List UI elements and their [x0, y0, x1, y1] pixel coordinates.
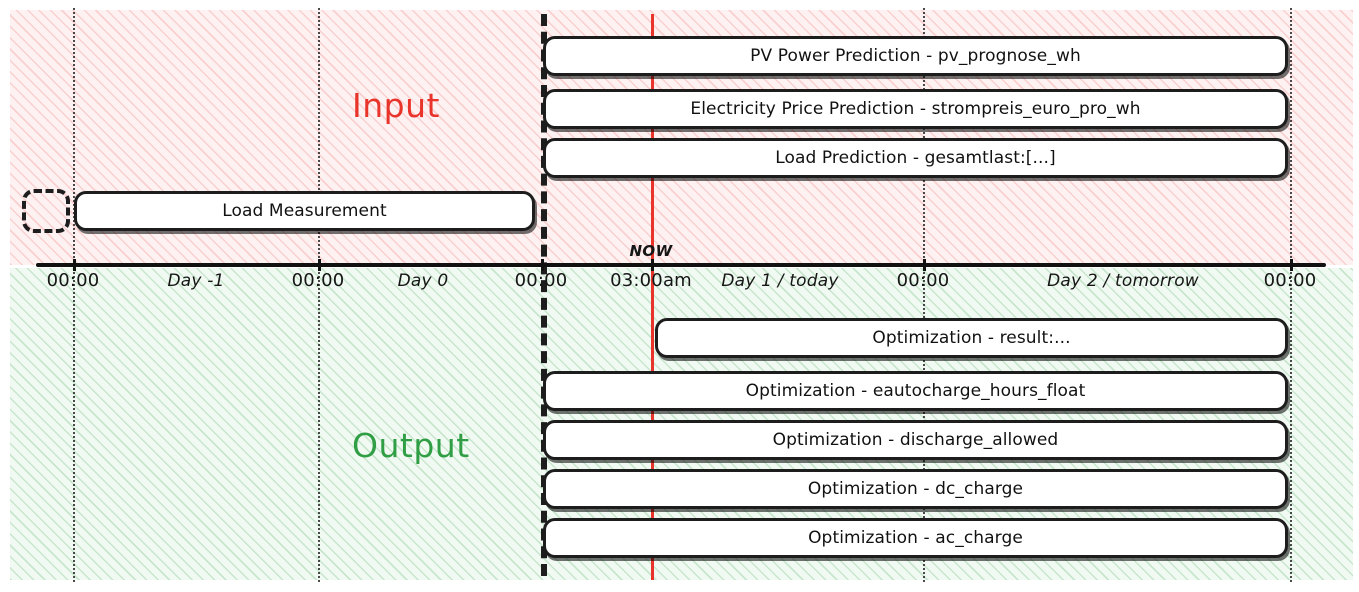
timeline-diagram: 00:0000:0000:0003:00am00:0000:00 Day -1D…: [0, 0, 1359, 592]
axis-day-label-2: Day 1 / today: [721, 271, 838, 291]
input-bar-label-3: Load Measurement: [222, 201, 387, 221]
input-bar-label-1: Electricity Price Prediction - stromprei…: [690, 99, 1140, 119]
axis-tick-label-3: 03:00am: [610, 270, 692, 291]
axis-day-label-3: Day 2 / tomorrow: [1047, 271, 1199, 291]
axis-day-label-1: Day 0: [398, 271, 449, 291]
axis-tick-label-5: 00:00: [1264, 270, 1317, 291]
input-bar-label-2: Load Prediction - gesamtlast:[...]: [775, 148, 1056, 168]
load-measurement-continuation-stub: [22, 189, 70, 233]
axis-tick-label-1: 00:00: [292, 270, 345, 291]
output-bar-0[interactable]: Optimization - result:...: [655, 318, 1288, 358]
axis-tick-label-0: 00:00: [47, 270, 100, 291]
now-label: NOW: [629, 242, 672, 260]
axis-tick-label-2: 00:00: [515, 270, 568, 291]
input-section-caption: Input: [352, 86, 440, 125]
time-axis: [36, 263, 1326, 267]
output-bar-label-4: Optimization - ac_charge: [808, 528, 1023, 548]
axis-day-label-0: Day -1: [167, 271, 224, 291]
output-bar-4[interactable]: Optimization - ac_charge: [543, 518, 1288, 558]
output-bar-label-1: Optimization - eautocharge_hours_float: [746, 381, 1086, 401]
axis-tick-label-4: 00:00: [897, 270, 950, 291]
output-bar-label-3: Optimization - dc_charge: [808, 479, 1023, 499]
day-separator-1: [318, 8, 320, 582]
input-bar-3[interactable]: Load Measurement: [74, 191, 535, 231]
day-separator-0: [73, 8, 75, 582]
input-bar-0[interactable]: PV Power Prediction - pv_prognose_wh: [543, 36, 1288, 76]
input-bar-1[interactable]: Electricity Price Prediction - stromprei…: [543, 89, 1288, 129]
output-bar-1[interactable]: Optimization - eautocharge_hours_float: [543, 371, 1288, 411]
output-bar-2[interactable]: Optimization - discharge_allowed: [543, 420, 1288, 460]
output-bar-label-0: Optimization - result:...: [872, 328, 1070, 348]
output-bar-label-2: Optimization - discharge_allowed: [773, 430, 1059, 450]
output-section-caption: Output: [352, 426, 470, 465]
day-separator-3: [1290, 8, 1292, 582]
output-bar-3[interactable]: Optimization - dc_charge: [543, 469, 1288, 509]
input-bar-2[interactable]: Load Prediction - gesamtlast:[...]: [543, 138, 1288, 178]
input-bar-label-0: PV Power Prediction - pv_prognose_wh: [750, 46, 1081, 66]
